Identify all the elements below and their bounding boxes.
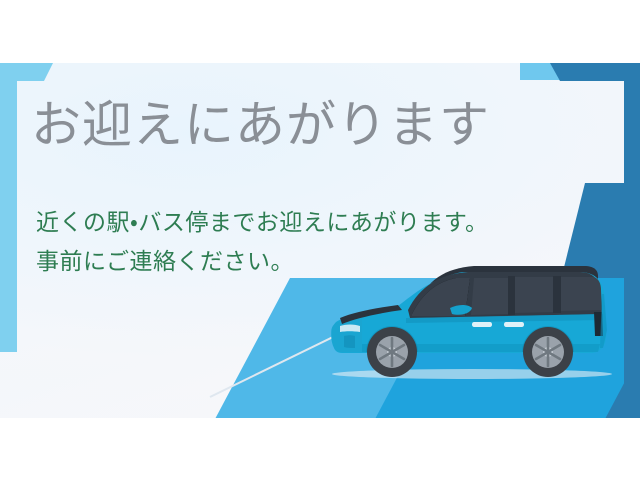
car-front-vent [344,335,355,348]
accent-bracket-left-vertical [0,63,17,352]
car-wheel-front [367,327,417,377]
car-pillar-2 [553,276,561,313]
car-window-middle [514,277,554,313]
car-headlight [340,325,360,333]
car-window-rear [560,277,601,311]
car-door-handle-rear [504,322,524,327]
car-shadow [332,369,612,379]
car-wheel-rear [523,327,573,377]
minivan-illustration [322,252,614,387]
accent-bracket-right-vertical [624,63,640,418]
car-pillar-1 [508,276,515,315]
body-line-1: 近くの駅・バス停までお迎えにあがります。 [36,203,489,242]
banner-image: お迎えにあがります 近くの駅・バス停までお迎えにあがります。 事前にご連絡くださ… [0,0,640,480]
car-window-front [471,278,508,315]
car-door-handle-front [472,322,492,327]
page-title: お迎えにあがります [31,98,490,152]
accent-bracket-top-right-horizontal [560,63,624,81]
